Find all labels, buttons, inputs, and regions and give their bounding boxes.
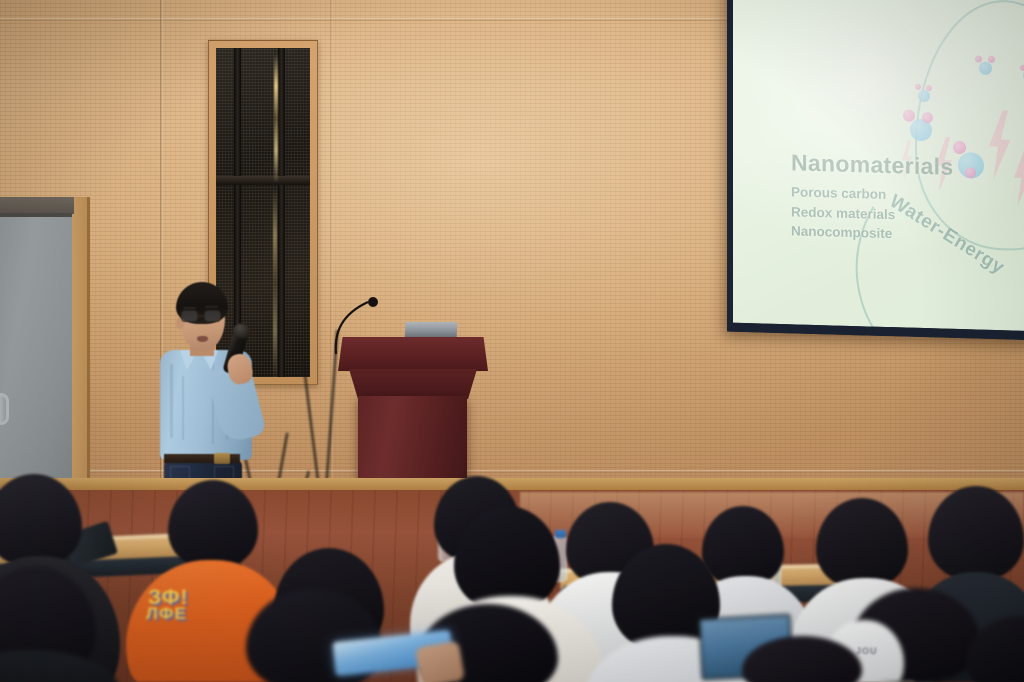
speaker-mouth <box>197 336 208 342</box>
speaker-eyebrow <box>205 306 218 308</box>
tshirt-text: JOU <box>856 646 878 656</box>
projection-screen: Nanomaterials Porous carbon Redox materi… <box>727 0 1024 340</box>
window-light-glint <box>274 54 278 182</box>
tshirt-graphic-print: ЛФЕ <box>146 604 187 624</box>
audience-hand <box>415 640 465 682</box>
projection-screen-bezel <box>727 0 1024 340</box>
lecture-hall-photo: Nanomaterials Porous carbon Redox materi… <box>0 0 1024 682</box>
podium-apron <box>349 369 477 399</box>
door-header-gap <box>0 197 74 214</box>
microphone-head <box>231 322 251 340</box>
door-handle-icon[interactable] <box>0 393 9 425</box>
belt-buckle <box>214 453 230 464</box>
window-mullion-horizontal <box>216 176 310 185</box>
gooseneck-microphone-head <box>368 297 378 307</box>
speaker-eyebrow <box>183 307 196 309</box>
bottle-cap <box>555 530 566 538</box>
eyeglasses-icon <box>179 310 225 322</box>
